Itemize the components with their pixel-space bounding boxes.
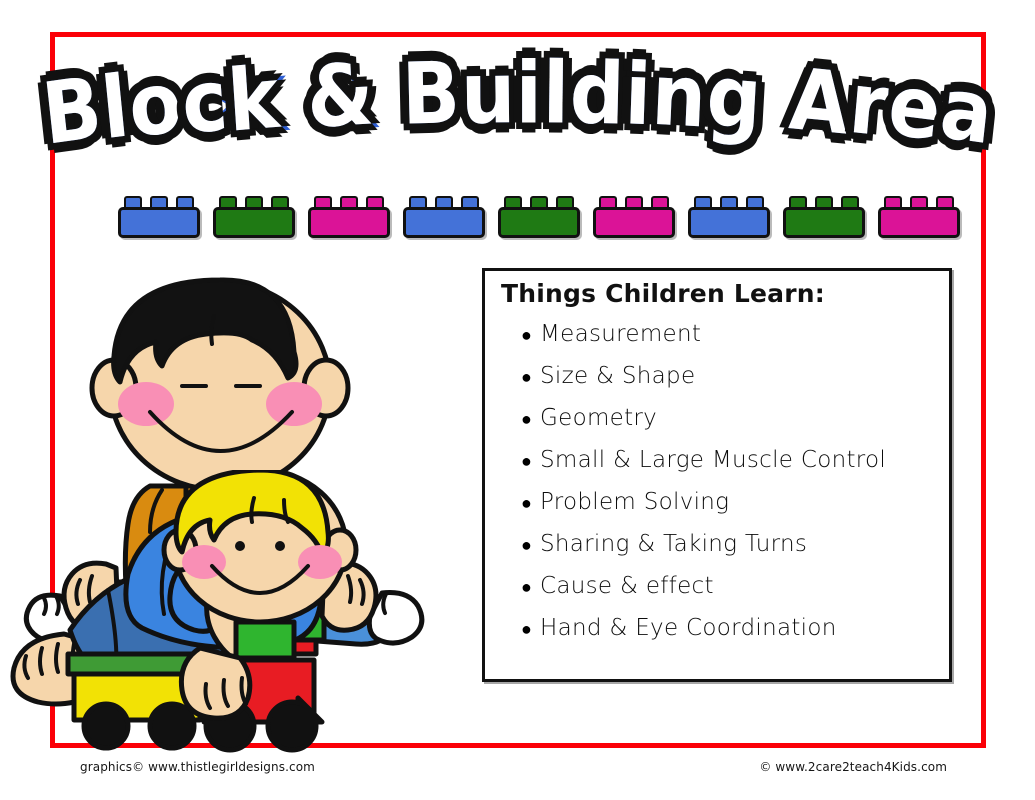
lego-body [308,207,390,238]
lego-block [308,196,390,238]
things-children-learn-box: Things Children Learn: ●Measurement●Size… [482,268,952,682]
front-child-illustration: .ol2 { stroke:#111; stroke-width:5; stro… [8,470,368,770]
lego-body [878,207,960,238]
bullet-icon: ● [521,621,540,639]
lego-block [783,196,865,238]
learn-item-label: Small & Large Muscle Control [540,447,886,473]
lego-body [498,207,580,238]
learn-item-label: Measurement [540,321,701,347]
bullet-icon: ● [521,411,540,429]
learn-items-list: ●Measurement●Size & Shape●Geometry●Small… [521,321,941,657]
learn-box-heading: Things Children Learn: [501,279,825,308]
learn-item: ●Geometry [521,405,941,447]
learn-item-label: Geometry [540,405,657,431]
lego-block [213,196,295,238]
bullet-icon: ● [521,453,540,471]
lego-body [213,207,295,238]
lego-block [593,196,675,238]
learn-item: ●Problem Solving [521,489,941,531]
learn-item: ●Size & Shape [521,363,941,405]
lego-block-divider [118,196,898,242]
bullet-icon: ● [521,369,540,387]
lego-body [593,207,675,238]
bullet-icon: ● [521,579,540,597]
lego-block [878,196,960,238]
graphics-credit: graphics© www.thistlegirldesigns.com [80,760,315,774]
lego-block [118,196,200,238]
bullet-icon: ● [521,495,540,513]
bullet-icon: ● [521,537,540,555]
learn-item-label: Cause & effect [540,573,714,599]
learn-item-label: Hand & Eye Coordination [540,615,837,641]
learn-item: ●Small & Large Muscle Control [521,447,941,489]
child-hand [181,648,249,718]
learn-item-label: Problem Solving [540,489,729,515]
learn-item: ●Sharing & Taking Turns [521,531,941,573]
learn-item-label: Sharing & Taking Turns [540,531,807,557]
lego-block [688,196,770,238]
learn-item: ●Cause & effect [521,573,941,615]
learn-item-label: Size & Shape [540,363,695,389]
lego-body [118,207,200,238]
lego-block [498,196,580,238]
learn-item: ●Measurement [521,321,941,363]
boy-head [92,280,348,490]
lego-block [403,196,485,238]
poster-canvas: Block & Building Area .ol { stroke:#111;… [0,0,1035,800]
bullet-icon: ● [521,327,540,345]
lego-body [783,207,865,238]
site-credit: © www.2care2teach4Kids.com [759,760,947,774]
lego-body [688,207,770,238]
learn-item: ●Hand & Eye Coordination [521,615,941,657]
lego-body [403,207,485,238]
